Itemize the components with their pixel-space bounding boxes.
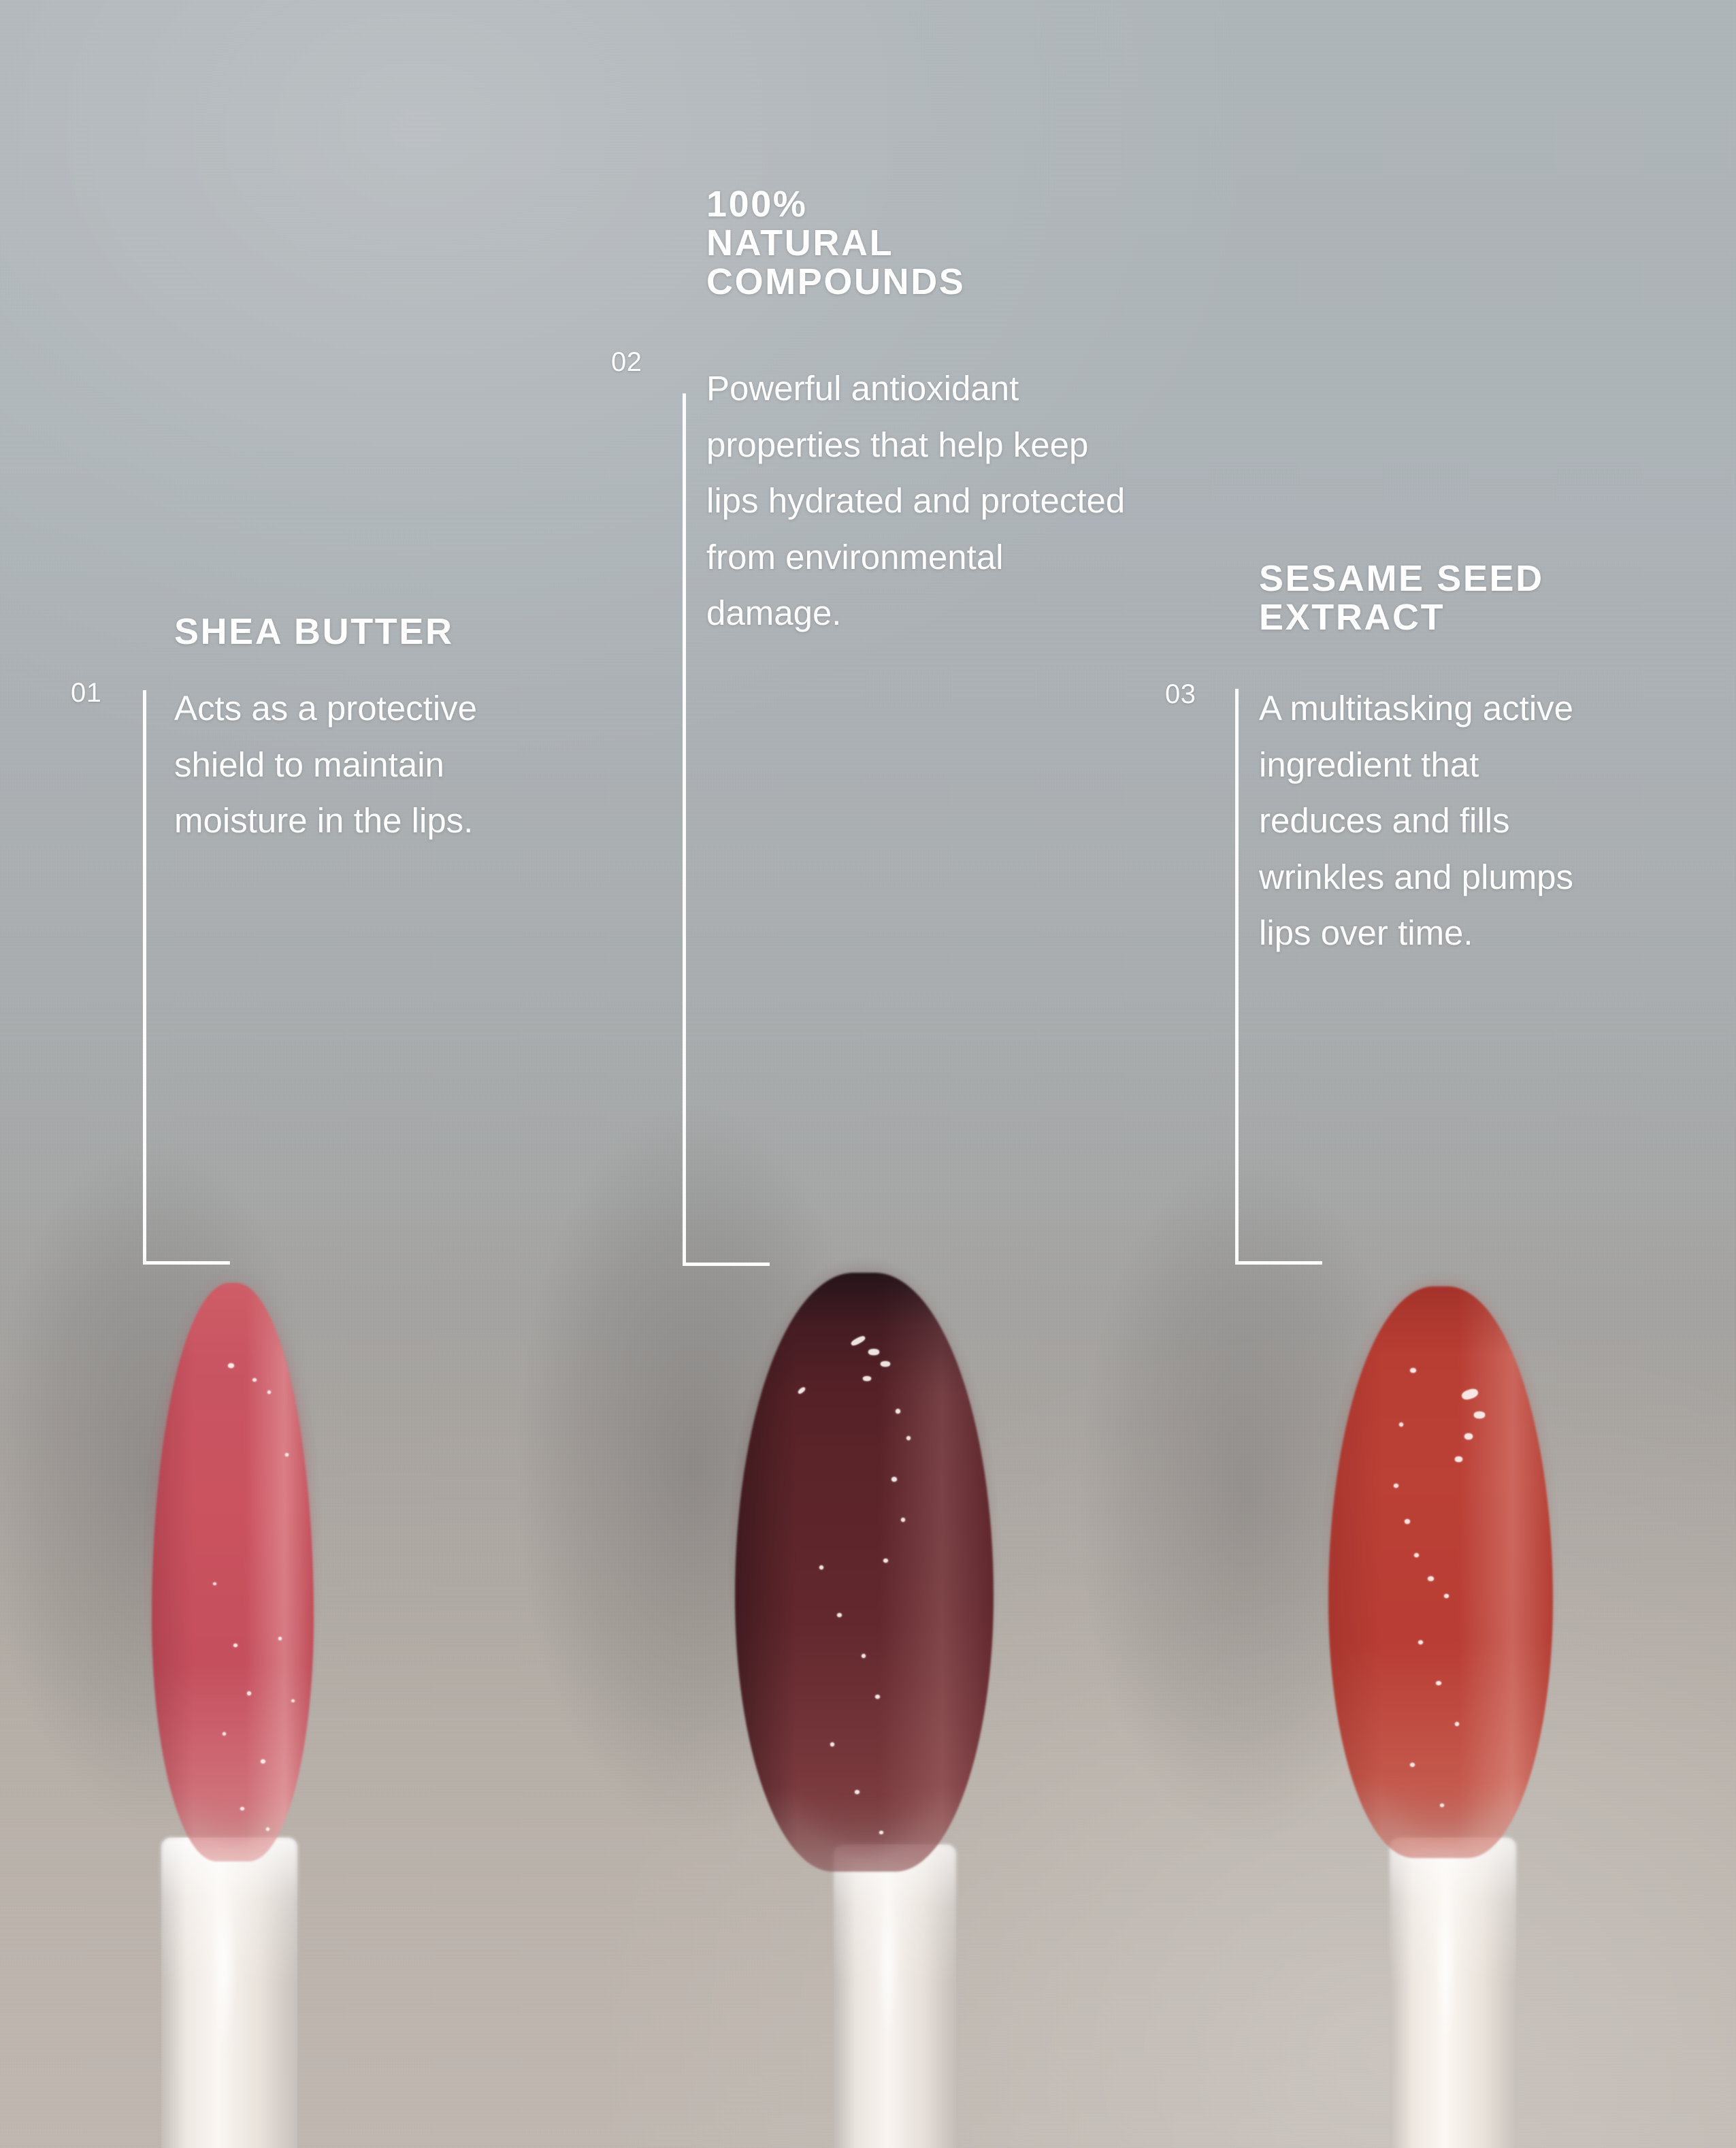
callout-title-03: SESAME SEED EXTRACT (1259, 559, 1736, 637)
callout-number-03: 03 (1165, 681, 1196, 708)
callout-03: 03 SESAME SEED EXTRACT A multitasking ac… (0, 0, 1736, 2148)
product-ingredient-poster: 01 SHEA BUTTER Acts as a protective shie… (0, 0, 1736, 2148)
callout-body-03: A multitasking active ingredient that re… (1259, 681, 1736, 962)
